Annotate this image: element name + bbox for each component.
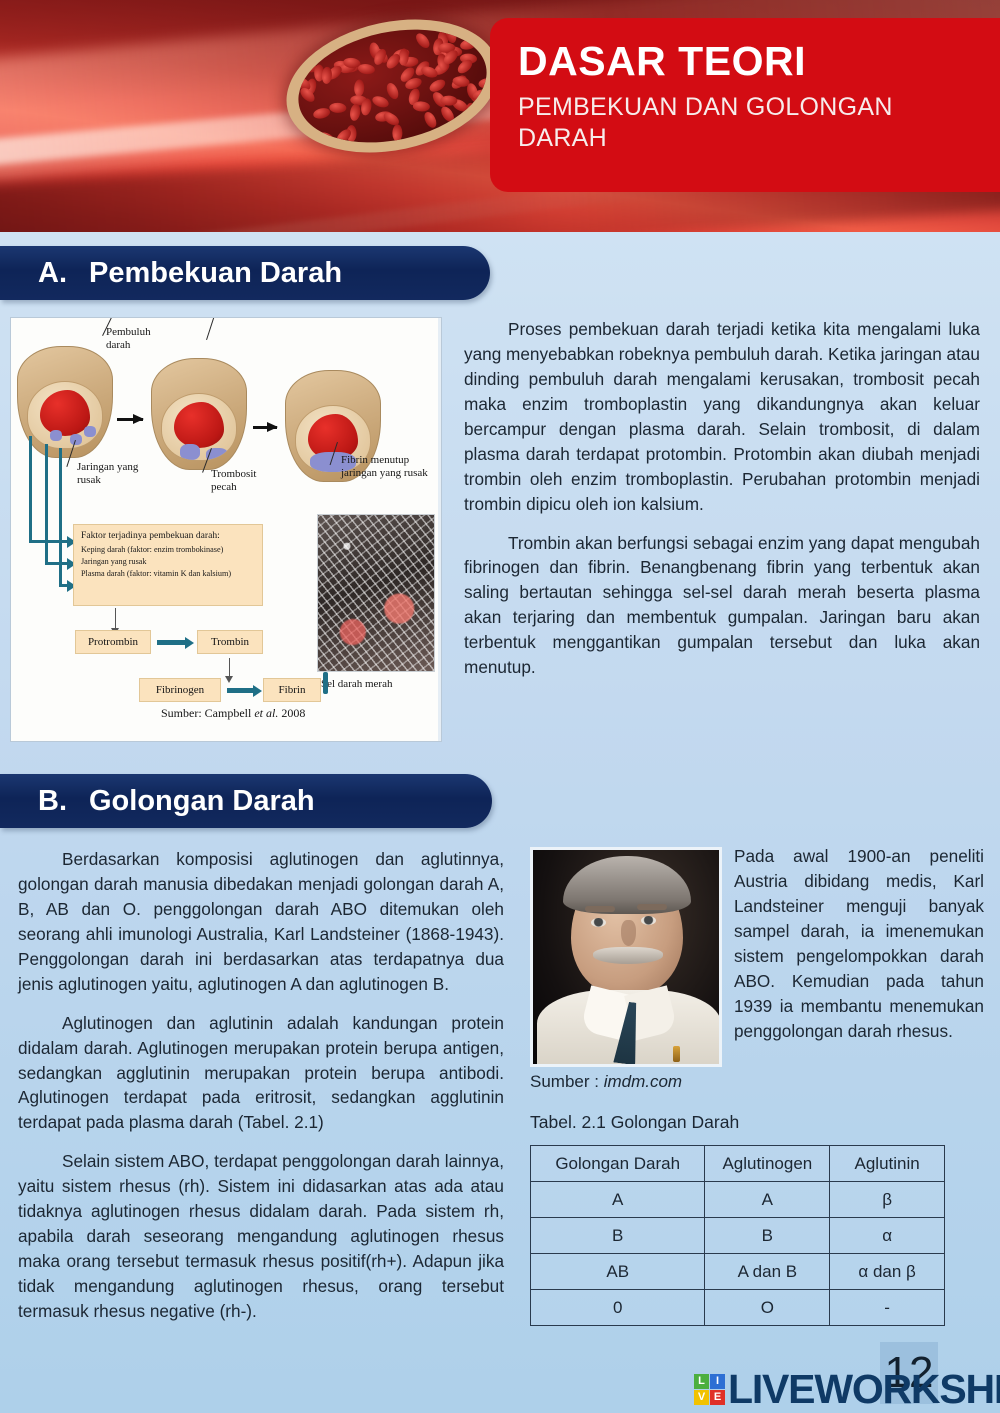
- page-title: DASAR TEORI: [518, 40, 970, 83]
- blood-clotting-diagram: Pembuluh darah Jaringan yang rusak Tromb…: [10, 317, 442, 742]
- paragraph: Trombin akan berfungsi sebagai enzim yan…: [464, 531, 980, 681]
- table-cell: 0: [531, 1290, 705, 1326]
- platelet-icon: [180, 444, 200, 460]
- collector-arrow: [45, 562, 67, 565]
- red-blood-cell-icon: [348, 103, 361, 121]
- red-blood-cell-icon: [422, 110, 439, 130]
- red-blood-cell-icon: [385, 82, 401, 102]
- clot-mass-2: [174, 402, 224, 448]
- source-value: imdm.com: [604, 1072, 682, 1091]
- photo-source-caption: Sumber : imdm.com: [530, 1072, 682, 1092]
- red-blood-cell-icon: [392, 125, 402, 142]
- title-plate: DASAR TEORI PEMBEKUAN DAN GOLONGAN DARAH: [490, 18, 1000, 192]
- red-blood-cell-icon: [455, 57, 474, 76]
- table-column-header: Aglutinin: [830, 1146, 945, 1182]
- table-row: AB A dan B α dan β: [531, 1254, 945, 1290]
- section-a-title: Pembekuan Darah: [89, 257, 342, 290]
- table-cell: AB: [531, 1254, 705, 1290]
- clot-mass-1: [40, 390, 90, 436]
- factor-item: Keping darah (faktor: enzim trombokinase…: [81, 544, 256, 556]
- tile-e: E: [710, 1390, 725, 1405]
- section-b-left-text: Berdasarkan komposisi aglutinogen dan ag…: [18, 847, 504, 1324]
- paragraph: Proses pembekuan darah terjadi ketika ki…: [464, 317, 980, 517]
- section-b-title: Golongan Darah: [89, 785, 315, 818]
- platelet-icon: [50, 430, 62, 441]
- source-italic: et al.: [254, 706, 278, 720]
- table-cell: B: [705, 1218, 830, 1254]
- label-pembuluh-darah: Pembuluh darah: [106, 326, 176, 353]
- fibrin-micrograph: [317, 514, 435, 672]
- red-blood-cell-icon: [312, 106, 331, 119]
- paragraph: Pada awal 1900-an peneliti Austria dibid…: [734, 844, 984, 1044]
- red-blood-cell-icon: [414, 31, 433, 50]
- table-row: B B α: [531, 1218, 945, 1254]
- table-row: A A β: [531, 1182, 945, 1218]
- chip-protrombin: Protrombin: [75, 630, 151, 654]
- diagram-source: Sumber: Campbell et al. 2008: [161, 706, 305, 721]
- source-prefix: Sumber: Campbell: [161, 706, 254, 720]
- section-b-letter: B.: [38, 785, 67, 818]
- paragraph: Berdasarkan komposisi aglutinogen dan ag…: [18, 847, 504, 997]
- platelet-icon: [84, 426, 96, 437]
- table-row: 0 O -: [531, 1290, 945, 1326]
- source-year: 2008: [278, 706, 305, 720]
- chip-trombin: Trombin: [197, 630, 263, 654]
- paragraph: Selain sistem ABO, terdapat penggolongan…: [18, 1149, 504, 1324]
- red-blood-cell-icon: [357, 63, 375, 75]
- portrait-nose: [621, 920, 636, 946]
- table-cell: B: [531, 1218, 705, 1254]
- table-caption: Tabel. 2.1 Golongan Darah: [530, 1112, 739, 1133]
- label-jaringan-rusak: Jaringan yang rusak: [77, 461, 143, 488]
- chip-fibrin: Fibrin: [263, 678, 321, 702]
- leader-line: [206, 317, 222, 340]
- liveworksheets-tiles-icon: L I V E: [694, 1374, 725, 1405]
- section-header-b: B. Golongan Darah: [0, 774, 492, 828]
- table-cell: O: [705, 1290, 830, 1326]
- table-cell: A: [531, 1182, 705, 1218]
- section-a-text: Proses pembekuan darah terjadi ketika ki…: [464, 317, 980, 680]
- page-subtitle: PEMBEKUAN DAN GOLONGAN DARAH: [518, 92, 970, 153]
- tile-i: I: [710, 1374, 725, 1389]
- table-cell: A dan B: [705, 1254, 830, 1290]
- red-blood-cell-icon: [427, 77, 447, 94]
- paragraph: Aglutinogen dan aglutinin adalah kandung…: [18, 1011, 504, 1136]
- loop-segment: [323, 672, 328, 694]
- portrait-eyebrow: [585, 906, 615, 912]
- factor-item: Jaringan yang rusak: [81, 556, 256, 568]
- table-column-header: Aglutinogen: [705, 1146, 830, 1182]
- tile-v: V: [694, 1390, 709, 1405]
- table-column-header: Golongan Darah: [531, 1146, 705, 1182]
- table-header-row: Golongan Darah Aglutinogen Aglutinin: [531, 1146, 945, 1182]
- label-fibrin-menutup: Fibrin menutup jaringan yang rusak: [341, 454, 442, 481]
- factor-item: Plasma darah (faktor: vitamin K dan kals…: [81, 568, 256, 580]
- stage-arrow-1: [117, 418, 143, 421]
- liveworksheets-wordmark: LIVEWORKSHEETS: [728, 1366, 1000, 1413]
- collector-line: [59, 448, 62, 584]
- red-blood-cell-icon: [440, 95, 457, 106]
- flow-arrow-right: [157, 640, 185, 645]
- flow-arrow-down-2: [229, 658, 230, 676]
- table-cell: -: [830, 1290, 945, 1326]
- flow-arrow-right-2: [227, 688, 253, 693]
- chip-fibrinogen: Fibrinogen: [139, 678, 221, 702]
- label-trombosit-pecah: Trombosit pecah: [211, 468, 269, 495]
- section-b-right-text: Pada awal 1900-an peneliti Austria dibid…: [734, 844, 984, 1044]
- collector-arrow: [59, 584, 67, 587]
- stage-arrow-2: [253, 426, 277, 429]
- flow-arrow-down: [115, 608, 116, 628]
- section-header-a: A. Pembekuan Darah: [0, 246, 490, 300]
- portrait-moustache: [593, 947, 663, 964]
- red-blood-cell-icon: [412, 101, 430, 112]
- red-blood-cell-icon: [329, 102, 346, 113]
- hero-banner: DASAR TEORI PEMBEKUAN DAN GOLONGAN DARAH: [0, 0, 1000, 232]
- portrait-eye: [641, 916, 656, 925]
- page-body: A. Pembekuan Darah: [0, 232, 1000, 1413]
- source-label: Sumber :: [530, 1072, 604, 1091]
- table-cell: β: [830, 1182, 945, 1218]
- label-sel-darah-merah: Sel darah merah: [321, 678, 392, 691]
- factor-box: Faktor terjadinya pembekuan darah: Kepin…: [73, 524, 263, 606]
- liveworksheets-logo[interactable]: L I V E LIVEWORKSHEETS: [694, 1366, 1000, 1413]
- portrait-eyebrow: [637, 904, 667, 910]
- karl-landsteiner-portrait: [530, 847, 722, 1067]
- tile-l: L: [694, 1374, 709, 1389]
- blood-type-table: Golongan Darah Aglutinogen Aglutinin A A…: [530, 1145, 945, 1326]
- factor-box-title: Faktor terjadinya pembekuan darah:: [81, 530, 256, 541]
- portrait-lapel-pin: [673, 1046, 680, 1062]
- collector-line: [45, 444, 48, 562]
- red-blood-cell-icon: [370, 94, 389, 109]
- table-cell: α: [830, 1218, 945, 1254]
- table-cell: α dan β: [830, 1254, 945, 1290]
- section-a-letter: A.: [38, 257, 67, 290]
- vessel-stage-2: [151, 358, 247, 470]
- collector-line: [29, 436, 32, 540]
- portrait-eye: [591, 918, 606, 927]
- table-cell: A: [705, 1182, 830, 1218]
